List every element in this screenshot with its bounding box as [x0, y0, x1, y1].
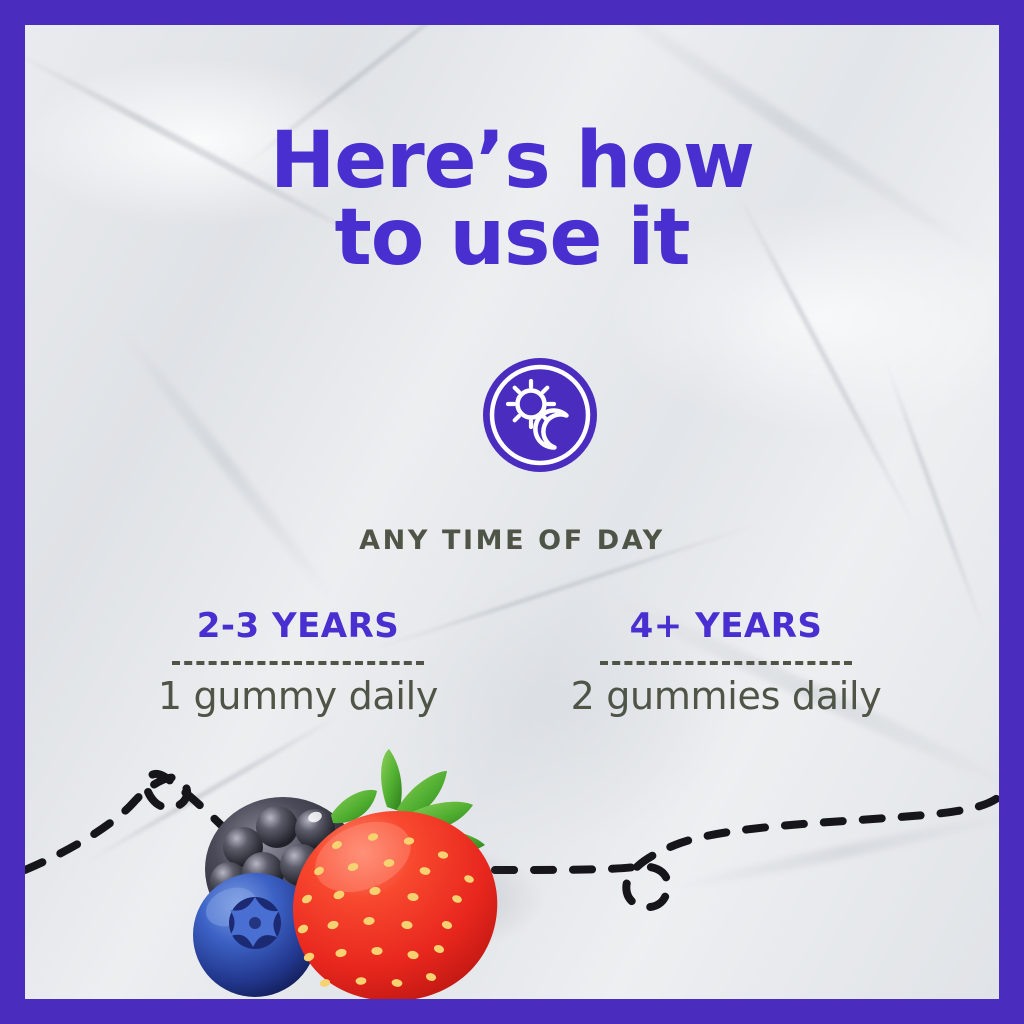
dosage-amount-label: 2 gummies daily [551, 677, 901, 717]
dosage-column: 4+ YEARS 2 gummies daily [551, 609, 901, 717]
marble-vein [668, 808, 999, 896]
page-title: Here’s how to use it [25, 123, 999, 277]
page-title-line-1: Here’s how [25, 123, 999, 200]
marble-background-panel: Here’s how to use it [25, 25, 999, 999]
product-infographic-card: Here’s how to use it [0, 0, 1024, 1024]
sun-and-moon-badge [482, 357, 598, 473]
dosage-age-label: 2-3 YEARS [123, 609, 473, 645]
berries-illustration [125, 749, 565, 999]
dosage-divider [172, 661, 424, 665]
marble-vein [882, 355, 988, 638]
dosage-divider [600, 661, 852, 665]
dashed-path-right [495, 797, 999, 907]
sun-and-moon-icon [482, 357, 598, 473]
dosage-age-label: 4+ YEARS [551, 609, 901, 645]
dosage-column: 2-3 YEARS 1 gummy daily [123, 609, 473, 717]
dosage-table: 2-3 YEARS 1 gummy daily 4+ YEARS 2 gummi… [25, 609, 999, 717]
marble-vein [109, 316, 342, 608]
dosage-amount-label: 1 gummy daily [123, 677, 473, 717]
timing-label: ANY TIME OF DAY [25, 525, 999, 556]
page-title-line-2: to use it [25, 200, 999, 277]
